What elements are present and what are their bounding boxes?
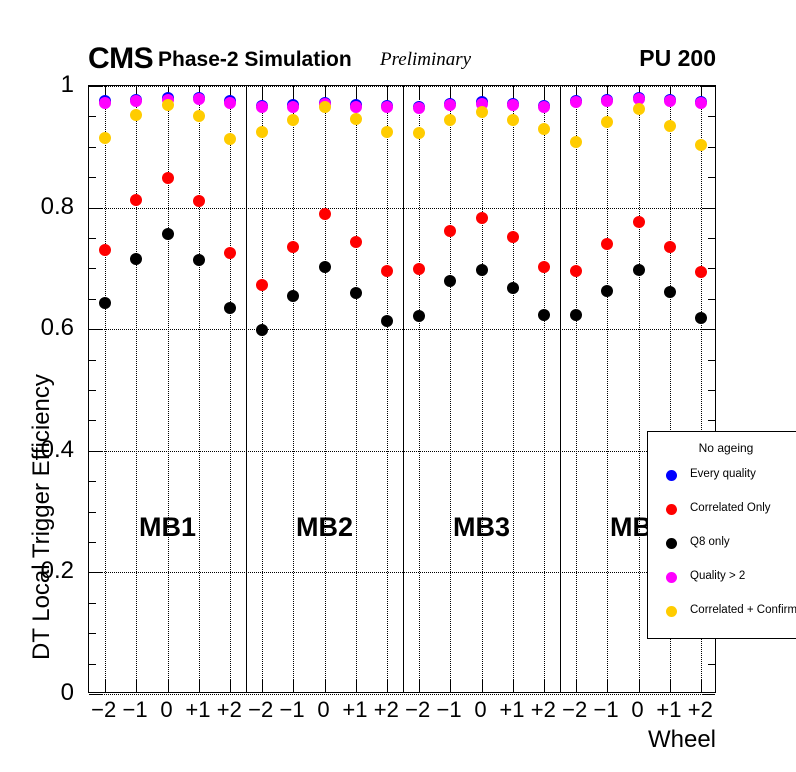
y-axis-tick (708, 177, 715, 178)
legend-entry: Every quality (648, 468, 796, 484)
y-axis-tick-label: 0 (61, 679, 74, 707)
data-point (507, 231, 519, 243)
x-axis-tick (325, 679, 326, 692)
data-point (507, 114, 519, 126)
y-axis-tick (89, 329, 102, 330)
grid-line-vertical (293, 86, 294, 692)
x-axis-tick-label: 0 (317, 697, 329, 723)
y-axis-tick (702, 329, 715, 330)
data-point (601, 116, 613, 128)
grid-line-vertical (230, 86, 231, 692)
station-separator (560, 86, 561, 692)
data-point (224, 247, 236, 259)
y-axis-tick-label: 0.6 (41, 314, 74, 342)
grid-line-vertical (136, 86, 137, 692)
y-axis-tick-label: 0.2 (41, 557, 74, 585)
y-axis-tick (89, 542, 96, 543)
grid-line-vertical (199, 86, 200, 692)
x-axis-tick (293, 86, 294, 99)
preliminary-label: Preliminary (380, 49, 471, 71)
grid-line-vertical (325, 86, 326, 692)
x-axis-tick-label: +1 (342, 697, 367, 723)
data-point (350, 287, 362, 299)
data-point (601, 238, 613, 250)
data-point (256, 324, 268, 336)
x-axis-tick (482, 679, 483, 692)
x-axis-tick-label: −2 (248, 697, 273, 723)
y-axis-tick (89, 481, 96, 482)
data-point (570, 136, 582, 148)
y-axis-tick (89, 633, 96, 634)
x-axis-tick (639, 679, 640, 692)
data-point (538, 309, 550, 321)
data-point (413, 263, 425, 275)
x-axis-title: Wheel (648, 726, 716, 754)
data-point (193, 93, 205, 105)
data-point (601, 95, 613, 107)
data-point (476, 264, 488, 276)
data-point (162, 172, 174, 184)
data-point (695, 266, 707, 278)
x-axis-tick (387, 86, 388, 99)
legend-entry: Correlated Only (648, 502, 796, 518)
data-point (193, 110, 205, 122)
data-point (476, 106, 488, 118)
grid-line-horizontal (89, 86, 715, 87)
grid-line-horizontal (89, 572, 715, 573)
data-point (287, 101, 299, 113)
data-point (193, 254, 205, 266)
data-point (256, 126, 268, 138)
legend-marker-icon (666, 470, 677, 481)
data-point (538, 101, 550, 113)
data-point (381, 265, 393, 277)
x-axis-tick (670, 679, 671, 692)
y-axis-tick-label: 1 (61, 71, 74, 99)
simulation-label: Phase-2 Simulation (158, 48, 352, 72)
data-point (664, 286, 676, 298)
x-axis-tick (607, 679, 608, 692)
x-axis-tick (293, 679, 294, 692)
data-point (193, 195, 205, 207)
x-axis-tick-label: −2 (562, 697, 587, 723)
data-point (570, 309, 582, 321)
data-point (224, 133, 236, 145)
legend-entry: Quality > 2 (648, 570, 796, 586)
x-axis-tick-label: +2 (217, 697, 242, 723)
legend-entry: Q8 only (648, 536, 796, 552)
grid-line-vertical (262, 86, 263, 692)
y-axis-tick (708, 147, 715, 148)
y-axis-tick (702, 208, 715, 209)
data-point (601, 285, 613, 297)
data-point (664, 95, 676, 107)
x-axis-tick (513, 679, 514, 692)
data-point (162, 228, 174, 240)
data-point (538, 261, 550, 273)
y-axis-tick (89, 116, 96, 117)
station-label-mb2: MB2 (296, 512, 353, 543)
legend-marker-icon (666, 538, 677, 549)
y-axis-tick (89, 420, 96, 421)
x-axis-tick (544, 679, 545, 692)
data-point (381, 315, 393, 327)
y-axis-tick (89, 299, 96, 300)
x-axis-tick (419, 679, 420, 692)
plot-header: CMS Phase-2 Simulation Preliminary PU 20… (88, 44, 716, 72)
y-axis-tick (708, 299, 715, 300)
x-axis-tick-label: 0 (631, 697, 643, 723)
data-point (633, 103, 645, 115)
x-axis-tick (576, 679, 577, 692)
legend-entry-label: Every quality (690, 468, 756, 480)
y-axis-tick (708, 268, 715, 269)
data-point (413, 102, 425, 114)
y-axis-tick (89, 238, 96, 239)
x-axis-tick-label: +2 (531, 697, 556, 723)
grid-line-vertical (419, 86, 420, 692)
data-point (507, 282, 519, 294)
data-point (476, 212, 488, 224)
data-point (444, 225, 456, 237)
y-axis-tick (89, 694, 102, 695)
grid-line-vertical (639, 86, 640, 692)
x-axis-tick-label: 0 (160, 697, 172, 723)
x-axis-tick-label: +2 (688, 697, 713, 723)
x-axis-tick-label: 0 (474, 697, 486, 723)
grid-line-horizontal (89, 329, 715, 330)
data-point (413, 127, 425, 139)
x-axis-tick (199, 679, 200, 692)
x-axis-tick (230, 679, 231, 692)
scatter-plot-area: MB1MB2MB3MB4 No ageing Every qualityCorr… (88, 85, 716, 693)
x-axis-tick-label: −2 (405, 697, 430, 723)
data-point (319, 101, 331, 113)
x-axis-tick (136, 679, 137, 692)
x-axis-tick (262, 86, 263, 99)
y-axis-tick (89, 147, 96, 148)
data-point (99, 297, 111, 309)
data-point (695, 312, 707, 324)
x-axis-tick (356, 679, 357, 692)
data-point (130, 95, 142, 107)
grid-line-vertical (105, 86, 106, 692)
x-axis-tick-label: +1 (499, 697, 524, 723)
x-axis-tick (544, 86, 545, 99)
y-axis-tick (89, 572, 102, 573)
data-point (256, 101, 268, 113)
data-point (287, 290, 299, 302)
data-point (350, 101, 362, 113)
legend-title: No ageing (648, 441, 796, 455)
y-axis-tick (708, 360, 715, 361)
x-axis-tick-label: −2 (91, 697, 116, 723)
y-axis-tick (89, 268, 96, 269)
pileup-label: PU 200 (639, 45, 716, 72)
data-point (287, 114, 299, 126)
grid-line-horizontal (89, 451, 715, 452)
x-axis-tick (356, 86, 357, 99)
data-point (162, 99, 174, 111)
data-point (99, 244, 111, 256)
x-axis-tick (513, 86, 514, 99)
data-point (507, 99, 519, 111)
x-axis-tick-label: −1 (437, 697, 462, 723)
y-axis-tick-label: 0.8 (41, 193, 74, 221)
data-point (695, 97, 707, 109)
station-separator (403, 86, 404, 692)
y-axis-tick (708, 116, 715, 117)
x-axis-tick (262, 679, 263, 692)
x-axis-tick (450, 86, 451, 99)
legend-marker-icon (666, 504, 677, 515)
data-point (381, 126, 393, 138)
y-axis-tick (89, 177, 96, 178)
x-axis-tick (105, 679, 106, 692)
x-axis-tick (450, 679, 451, 692)
data-point (224, 302, 236, 314)
data-point (381, 101, 393, 113)
grid-line-horizontal (89, 694, 715, 695)
grid-line-vertical (513, 86, 514, 692)
grid-line-vertical (387, 86, 388, 692)
data-point (350, 113, 362, 125)
grid-line-vertical (544, 86, 545, 692)
x-axis-tick-label: +1 (656, 697, 681, 723)
x-axis-tick-label: +2 (374, 697, 399, 723)
grid-line-vertical (576, 86, 577, 692)
x-axis-tick (168, 679, 169, 692)
x-axis-tick (387, 679, 388, 692)
y-axis-tick (89, 512, 96, 513)
x-axis-tick (701, 679, 702, 692)
legend-box: No ageing Every qualityCorrelated OnlyQ8… (647, 431, 796, 639)
y-axis-tick (89, 390, 96, 391)
data-point (99, 132, 111, 144)
data-point (350, 236, 362, 248)
x-axis-tick (419, 86, 420, 99)
data-point (130, 109, 142, 121)
y-axis-tick (89, 86, 102, 87)
y-axis-tick (89, 603, 96, 604)
data-point (99, 97, 111, 109)
data-point (538, 123, 550, 135)
x-axis-tick-label: −1 (123, 697, 148, 723)
station-label-mb1: MB1 (139, 512, 196, 543)
data-point (444, 99, 456, 111)
legend-entry-label: Quality > 2 (690, 570, 745, 582)
legend-entry-label: Correlated Only (690, 502, 771, 514)
y-axis-tick (708, 420, 715, 421)
y-axis-tick (708, 664, 715, 665)
grid-line-vertical (482, 86, 483, 692)
grid-line-horizontal (89, 208, 715, 209)
y-axis-tick (89, 664, 96, 665)
y-axis-tick (702, 86, 715, 87)
data-point (664, 120, 676, 132)
legend-marker-icon (666, 572, 677, 583)
legend-entry-label: Q8 only (690, 536, 730, 548)
station-label-mb3: MB3 (453, 512, 510, 543)
legend-marker-icon (666, 606, 677, 617)
y-axis-tick (702, 694, 715, 695)
legend-entry-label: Correlated + Confirmed (690, 604, 796, 616)
station-separator (246, 86, 247, 692)
x-axis-tick-label: +1 (185, 697, 210, 723)
x-axis-tick-label: −1 (280, 697, 305, 723)
data-point (664, 241, 676, 253)
data-point (633, 216, 645, 228)
data-point (633, 264, 645, 276)
data-point (413, 310, 425, 322)
y-axis-tick (89, 208, 102, 209)
data-point (444, 275, 456, 287)
data-point (570, 96, 582, 108)
data-point (570, 265, 582, 277)
data-point (695, 139, 707, 151)
data-point (130, 253, 142, 265)
y-axis-title: DT Local Trigger Efficiency (28, 374, 56, 660)
data-point (130, 194, 142, 206)
y-axis-tick (708, 238, 715, 239)
y-axis-tick-label: 0.4 (41, 436, 74, 464)
data-point (287, 241, 299, 253)
grid-line-vertical (607, 86, 608, 692)
legend-entry: Correlated + Confirmed (648, 604, 796, 620)
cms-logo-label: CMS (88, 42, 153, 76)
data-point (319, 208, 331, 220)
data-point (256, 279, 268, 291)
data-point (444, 114, 456, 126)
grid-line-vertical (356, 86, 357, 692)
y-axis-tick (89, 360, 96, 361)
grid-line-vertical (450, 86, 451, 692)
y-axis-tick (708, 390, 715, 391)
x-axis-tick-label: −1 (594, 697, 619, 723)
data-point (319, 261, 331, 273)
data-point (224, 97, 236, 109)
y-axis-tick (89, 451, 102, 452)
